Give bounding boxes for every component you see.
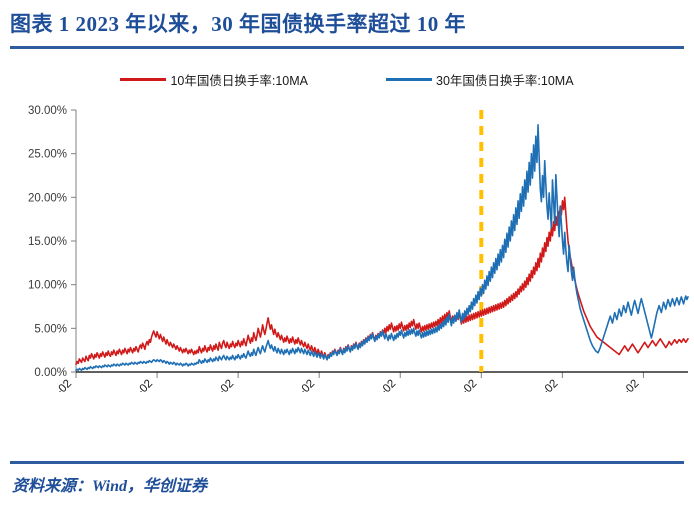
x-tick-label: 2020-01-02 [186, 378, 236, 392]
series-line-30y [76, 125, 688, 370]
x-tick-label: 2019-01-02 [105, 378, 155, 392]
x-tick-label: 2023-01-02 [429, 378, 479, 392]
y-axis-ticks: 0.00%5.00%10.00%15.00%20.00%25.00%30.00% [28, 105, 76, 379]
x-axis-ticks: 2018-01-022019-01-022020-01-022021-01-02… [24, 372, 643, 392]
legend-label-30y: 30年国债日换手率:10MA [436, 70, 574, 89]
legend-item-10y[interactable]: 10年国债日换手率:10MA [120, 70, 308, 89]
legend-label-10y: 10年国债日换手率:10MA [170, 70, 308, 89]
chart-series-group [76, 125, 688, 370]
y-tick-label: 10.00% [28, 280, 67, 292]
legend-swatch-10y [120, 78, 166, 81]
y-tick-label: 0.00% [34, 367, 67, 379]
line-chart: 0.00%5.00%10.00%15.00%20.00%25.00%30.00%… [0, 92, 694, 392]
y-tick-label: 30.00% [28, 105, 67, 117]
x-tick-label: 2022-01-02 [348, 378, 398, 392]
x-tick-label: 2024-01-02 [510, 378, 560, 392]
y-tick-label: 5.00% [34, 323, 67, 335]
figure-container: 图表 1 2023 年以来，30 年国债换手率超过 10 年 10年国债日换手率… [0, 0, 694, 511]
footer-divider-rule [10, 461, 684, 464]
source-note: 资料来源：Wind，华创证券 [12, 472, 207, 496]
x-tick-label: 2025-01-02 [591, 378, 641, 392]
chart-legend: 10年国债日换手率:10MA 30年国债日换手率:10MA [0, 68, 694, 90]
legend-item-30y[interactable]: 30年国债日换手率:10MA [386, 70, 574, 89]
y-tick-label: 20.00% [28, 192, 67, 204]
y-tick-label: 15.00% [28, 236, 67, 248]
y-tick-label: 25.00% [28, 149, 67, 161]
legend-swatch-30y [386, 78, 432, 81]
series-line-10y [76, 197, 688, 364]
figure-title-bar: 图表 1 2023 年以来，30 年国债换手率超过 10 年 [0, 0, 694, 46]
x-tick-label: 2021-01-02 [267, 378, 317, 392]
title-divider-rule [10, 46, 684, 49]
chart-plot-area: 0.00%5.00%10.00%15.00%20.00%25.00%30.00%… [0, 92, 694, 392]
page-title: 图表 1 2023 年以来，30 年国债换手率超过 10 年 [0, 8, 466, 38]
x-tick-label: 2018-01-02 [24, 378, 74, 392]
